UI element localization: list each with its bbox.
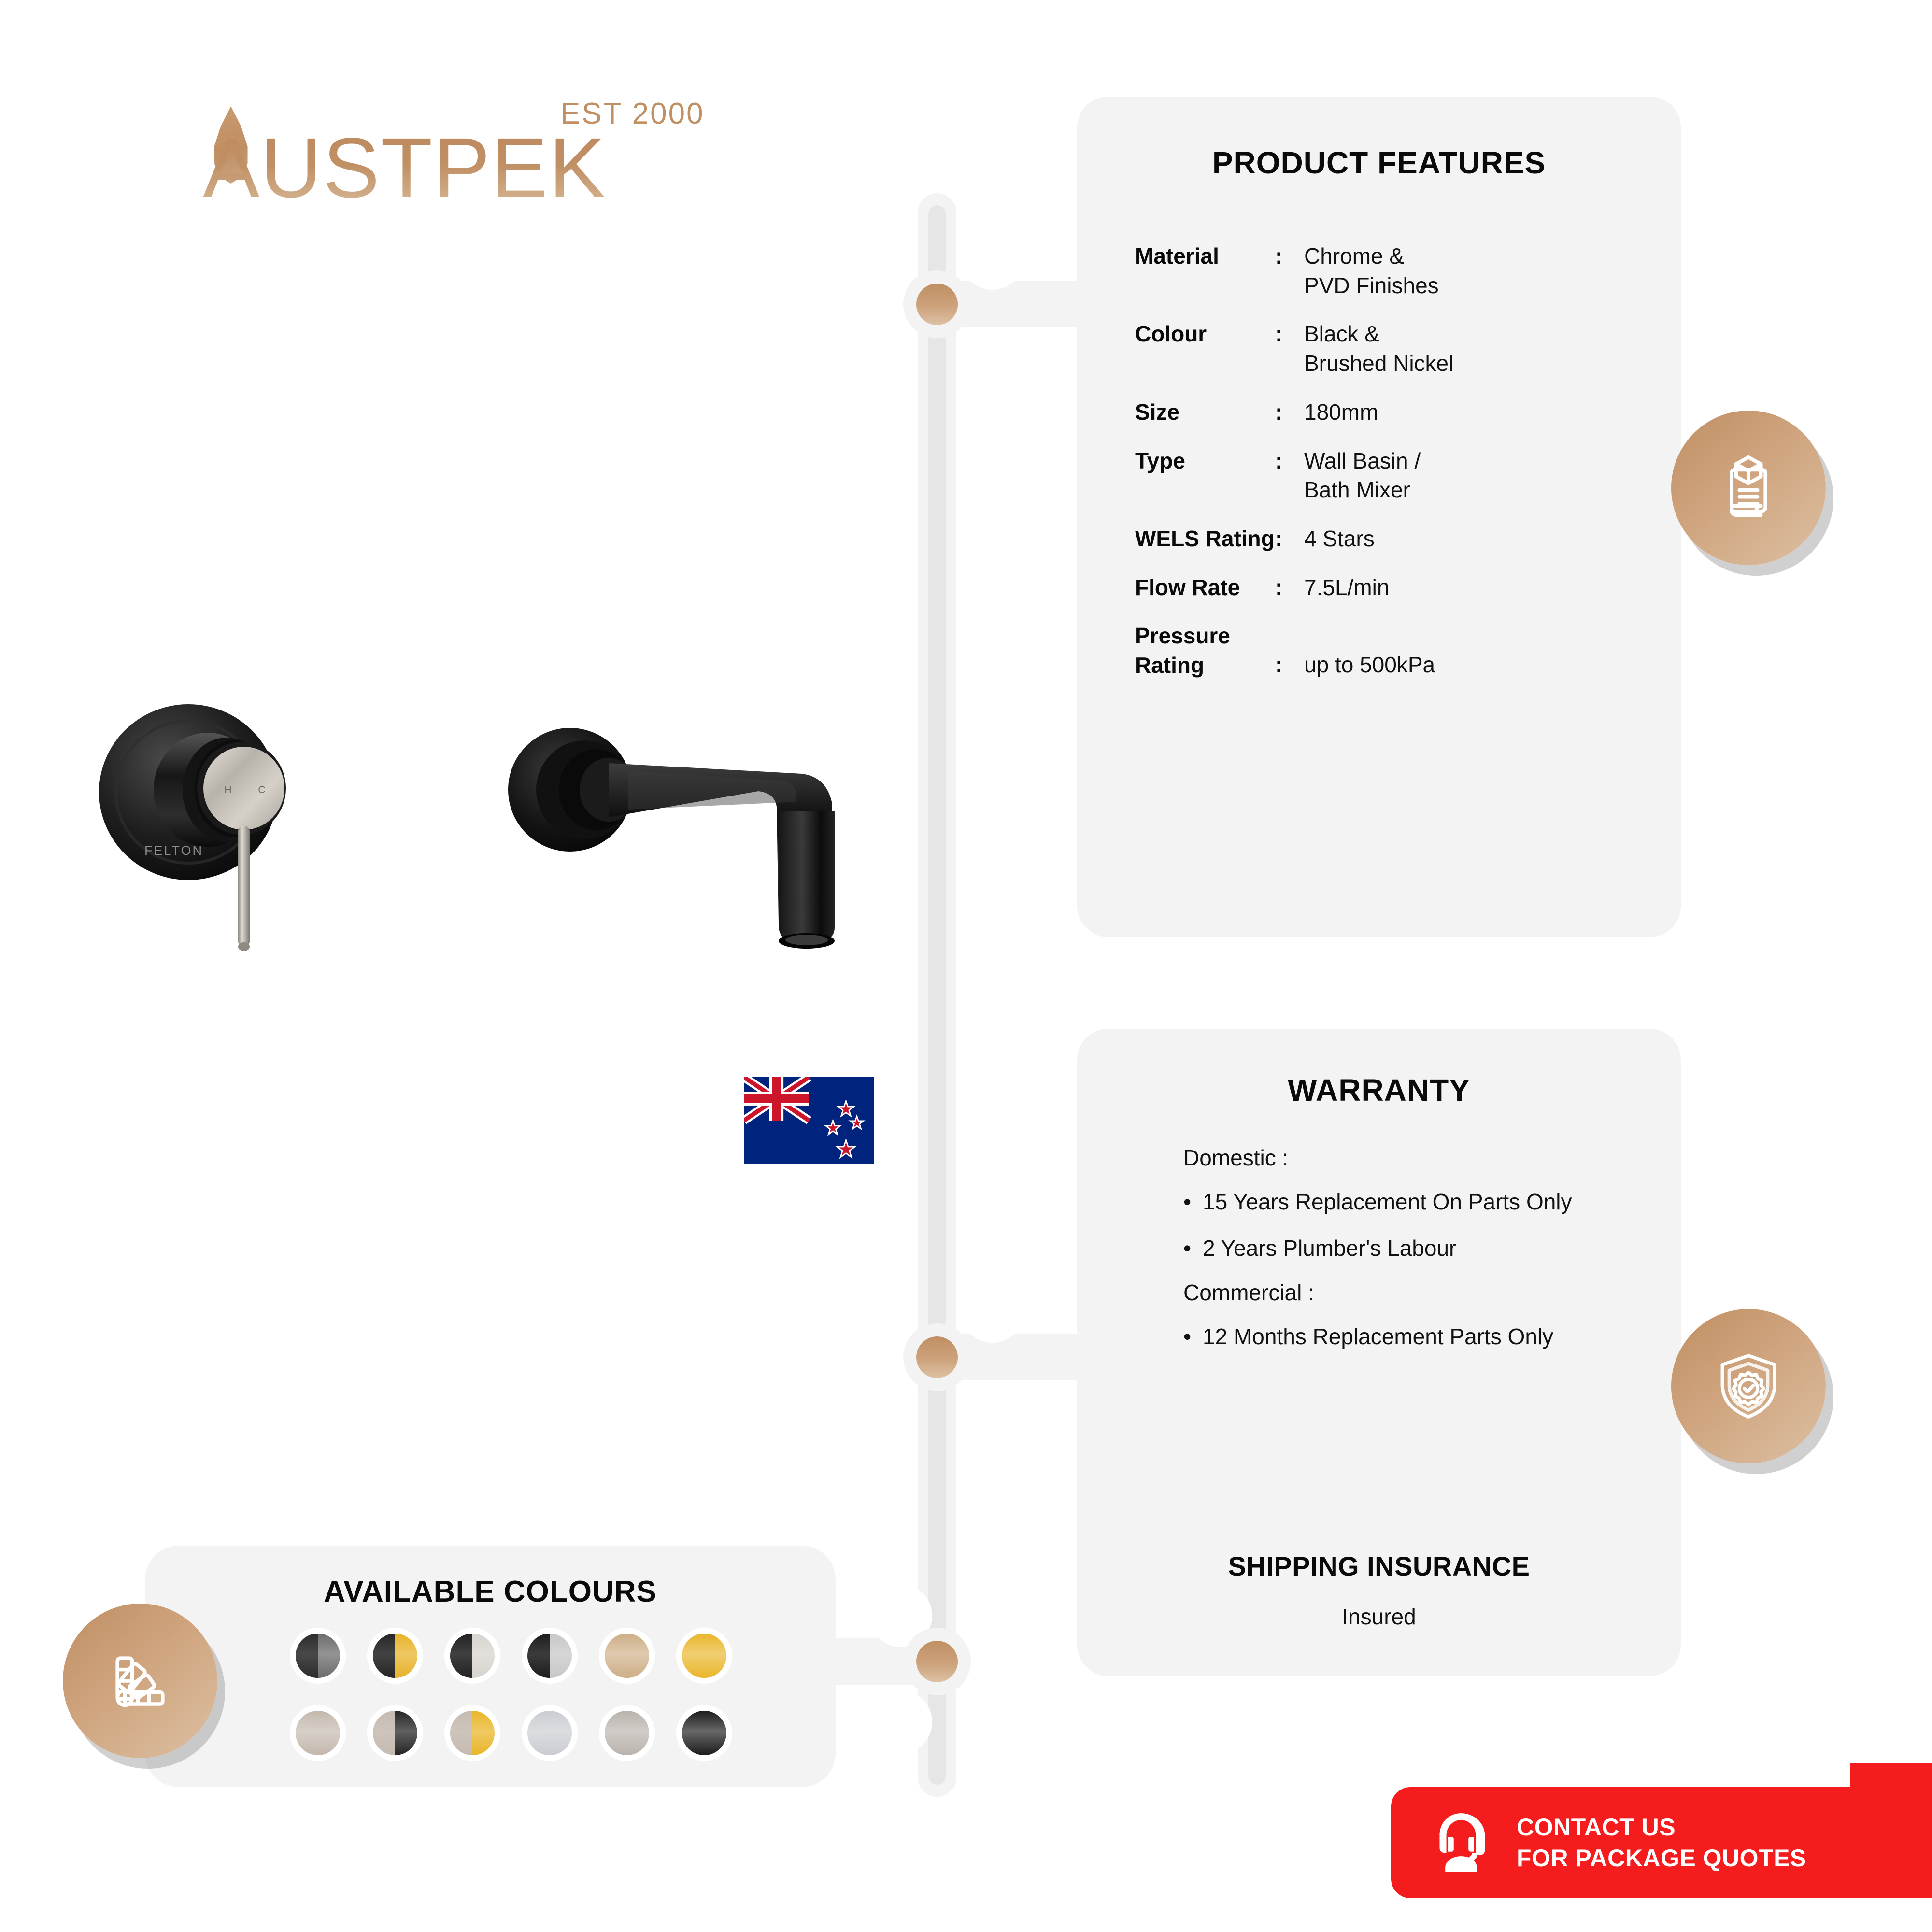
swatch-half-left xyxy=(527,1634,550,1678)
feature-row: WELS Rating:4 Stars xyxy=(1135,524,1647,554)
feature-value: 4 Stars xyxy=(1304,524,1647,554)
swatch-disc xyxy=(605,1711,649,1755)
colour-swatch-gloss-black[interactable] xyxy=(676,1705,732,1761)
swatch-fill xyxy=(682,1634,726,1678)
headset-support-icon xyxy=(1425,1806,1497,1879)
shield-certified-icon xyxy=(1671,1309,1826,1463)
rail-notch xyxy=(961,333,1024,396)
contact-line-1: CONTACT US xyxy=(1517,1812,1806,1843)
colour-swatch-brushed-nickel[interactable] xyxy=(290,1705,346,1761)
warranty-list-item: •15 Years Replacement On Parts Only xyxy=(1183,1187,1628,1217)
warranty-item-text: 15 Years Replacement On Parts Only xyxy=(1203,1187,1572,1217)
colour-swatch-polished-chrome[interactable] xyxy=(522,1705,578,1761)
svg-text:H: H xyxy=(224,784,231,796)
available-colours-title: AVAILABLE COLOURS xyxy=(145,1575,836,1609)
swatch-disc xyxy=(450,1634,495,1678)
feature-separator: : xyxy=(1275,241,1304,271)
product-image: H C FELTON xyxy=(48,667,894,1053)
brand-tagline: EST 2000 xyxy=(560,97,705,131)
colour-swatch-brushed-gunmetal[interactable] xyxy=(599,1705,655,1761)
warranty-list-item: •12 Months Replacement Parts Only xyxy=(1183,1322,1628,1352)
warranty-list-item: •2 Years Plumber's Labour xyxy=(1183,1234,1628,1264)
swatch-half-right xyxy=(395,1634,417,1678)
infographic-canvas: AUSTPEK EST 2000 xyxy=(0,0,1932,1932)
swatch-disc xyxy=(450,1711,495,1755)
warranty-body: Domestic :•15 Years Replacement On Parts… xyxy=(1183,1145,1628,1368)
feature-value: Black & Brushed Nickel xyxy=(1304,319,1647,378)
wall-spout xyxy=(508,728,835,949)
feature-key: Flow Rate xyxy=(1135,573,1275,602)
feature-row: Size:180mm xyxy=(1135,398,1647,427)
swatch-disc xyxy=(682,1634,726,1678)
swatch-disc xyxy=(373,1634,417,1678)
feature-separator: : xyxy=(1275,621,1304,680)
colour-swatch-black-and-brushed-nickel[interactable] xyxy=(522,1628,578,1684)
rail-notch xyxy=(961,1386,1024,1449)
warranty-domestic-label: Domestic : xyxy=(1183,1145,1628,1171)
swatch-half-left xyxy=(450,1711,472,1755)
feature-separator: : xyxy=(1275,398,1304,427)
colour-swatch-polished-gold[interactable] xyxy=(676,1628,732,1684)
feature-row: Material:Chrome & PVD Finishes xyxy=(1135,241,1647,300)
feature-value: Wall Basin / Bath Mixer xyxy=(1304,446,1647,505)
contact-us-banner[interactable]: CONTACT US FOR PACKAGE QUOTES xyxy=(1391,1787,1932,1898)
feature-value: up to 500kPa xyxy=(1304,621,1647,680)
wall-mixer-handle: H C FELTON xyxy=(99,704,286,951)
swatch-half-left xyxy=(296,1634,318,1678)
feature-row: Colour:Black & Brushed Nickel xyxy=(1135,319,1647,378)
swatch-half-right xyxy=(318,1634,340,1678)
feature-key: Material xyxy=(1135,241,1275,271)
feature-key: Size xyxy=(1135,398,1275,427)
swatch-half-left xyxy=(373,1711,395,1755)
swatch-disc xyxy=(605,1634,649,1678)
feature-separator: : xyxy=(1275,319,1304,349)
rail-node-colours xyxy=(903,1628,971,1695)
swatch-half-left xyxy=(373,1634,395,1678)
product-features-title: PRODUCT FEATURES xyxy=(1077,145,1681,181)
rail-node-warranty xyxy=(903,1323,971,1391)
swatch-disc xyxy=(682,1711,726,1755)
colour-swatch-black-and-gold[interactable] xyxy=(367,1628,423,1684)
warranty-item-text: 2 Years Plumber's Labour xyxy=(1203,1234,1456,1264)
feature-key: WELS Rating xyxy=(1135,524,1275,554)
brand-name: AUSTPEK xyxy=(203,126,607,211)
feature-row: Type:Wall Basin / Bath Mixer xyxy=(1135,446,1647,505)
swatch-half-right xyxy=(472,1711,495,1755)
shipping-insurance-title: SHIPPING INSURANCE xyxy=(1077,1550,1681,1582)
warranty-item-text: 12 Months Replacement Parts Only xyxy=(1203,1322,1553,1352)
product-spec-clipboard-icon xyxy=(1671,411,1826,565)
swatch-half-right xyxy=(395,1711,417,1755)
feature-row: Pressure Rating:up to 500kPa xyxy=(1135,621,1647,680)
bullet-icon: • xyxy=(1183,1187,1203,1217)
warranty-commercial-label: Commercial : xyxy=(1183,1279,1628,1306)
swatch-disc xyxy=(527,1634,572,1678)
shipping-insurance-value: Insured xyxy=(1077,1604,1681,1630)
swatch-half-right xyxy=(472,1634,495,1678)
swatch-fill xyxy=(296,1711,340,1755)
swatch-disc xyxy=(527,1711,572,1755)
swatch-half-right xyxy=(550,1634,572,1678)
feature-row: Flow Rate:7.5L/min xyxy=(1135,573,1647,602)
feature-separator: : xyxy=(1275,573,1304,602)
feature-value: 7.5L/min xyxy=(1304,573,1647,602)
swatch-fill xyxy=(605,1634,649,1678)
feature-value: Chrome & PVD Finishes xyxy=(1304,241,1647,300)
felton-brand-mark: FELTON xyxy=(144,843,203,858)
rail-notch xyxy=(961,227,1024,290)
rail-notch xyxy=(869,1690,932,1753)
colour-swatch-nickel-and-gold[interactable] xyxy=(444,1705,500,1761)
feature-separator: : xyxy=(1275,446,1304,476)
swatch-fill xyxy=(527,1711,572,1755)
svg-text:C: C xyxy=(258,784,265,796)
bullet-icon: • xyxy=(1183,1322,1203,1352)
swatch-half-left xyxy=(450,1634,472,1678)
swatch-fill xyxy=(605,1711,649,1755)
colour-swatch-black-and-chrome[interactable] xyxy=(444,1628,500,1684)
product-features-list: Material:Chrome & PVD FinishesColour:Bla… xyxy=(1135,241,1647,699)
rail-node-features xyxy=(903,270,971,338)
feature-key: Type xyxy=(1135,446,1275,476)
swatch-disc xyxy=(296,1711,340,1755)
rail-notch xyxy=(961,1280,1024,1343)
warranty-title: WARRANTY xyxy=(1077,1072,1681,1108)
contact-banner-text: CONTACT US FOR PACKAGE QUOTES xyxy=(1517,1812,1806,1874)
contact-line-2: FOR PACKAGE QUOTES xyxy=(1517,1843,1806,1874)
new-zealand-flag xyxy=(744,1077,874,1164)
colour-palette-icon xyxy=(63,1604,217,1758)
colour-swatch-row xyxy=(290,1628,782,1684)
colour-swatch-grid xyxy=(290,1628,782,1782)
feature-separator: : xyxy=(1275,524,1304,554)
colour-swatch-nickel-and-black[interactable] xyxy=(367,1705,423,1761)
colour-swatch-brushed-brass[interactable] xyxy=(599,1628,655,1684)
feature-key: Colour xyxy=(1135,319,1275,349)
feature-key: Pressure Rating xyxy=(1135,621,1275,680)
swatch-fill xyxy=(682,1711,726,1755)
feature-value: 180mm xyxy=(1304,398,1647,427)
connector-rail-core xyxy=(928,205,946,1785)
swatch-disc xyxy=(296,1634,340,1678)
brand-logo: AUSTPEK EST 2000 xyxy=(203,97,782,251)
swatch-disc xyxy=(373,1711,417,1755)
colour-swatch-matte-black[interactable] xyxy=(290,1628,346,1684)
bullet-icon: • xyxy=(1183,1234,1203,1264)
colour-swatch-row xyxy=(290,1705,782,1761)
